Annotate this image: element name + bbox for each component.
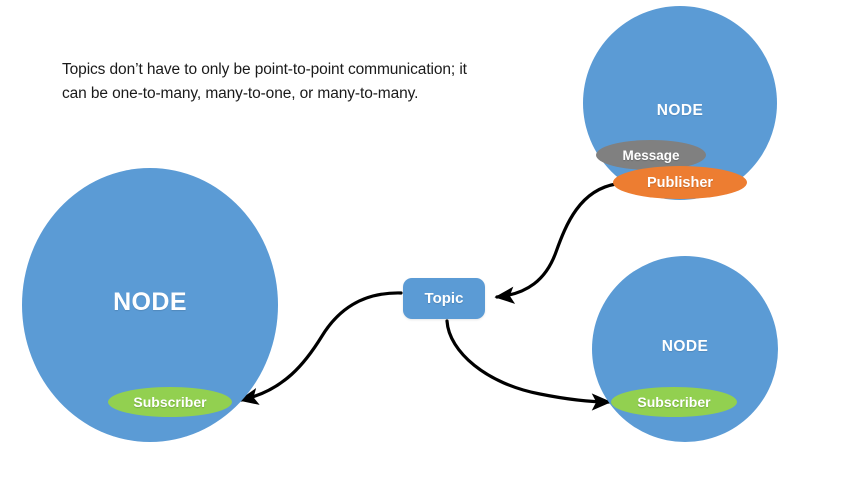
topic-box[interactable]: Topic (403, 278, 485, 319)
subscriber-pill-left[interactable]: Subscriber (108, 387, 232, 417)
node-bottom-right-label: NODE (592, 338, 778, 356)
publisher-pill-label: Publisher (647, 175, 713, 191)
publisher-pill[interactable]: Publisher (613, 166, 747, 199)
topic-box-label: Topic (425, 290, 464, 307)
diagram-slide: Topics don’t have to only be point-to-po… (0, 0, 854, 480)
message-pill-label: Message (622, 148, 679, 163)
subscriber-pill-bottom-right[interactable]: Subscriber (611, 387, 737, 417)
subscriber-pill-left-label: Subscriber (133, 394, 206, 410)
arrow-publisher-to-topic (497, 184, 616, 297)
arrow-topic-to-bottomright-subscriber (447, 321, 609, 402)
node-top-right-label: NODE (583, 102, 777, 120)
subscriber-pill-bottom-right-label: Subscriber (637, 394, 710, 410)
node-left-label: NODE (22, 288, 278, 317)
